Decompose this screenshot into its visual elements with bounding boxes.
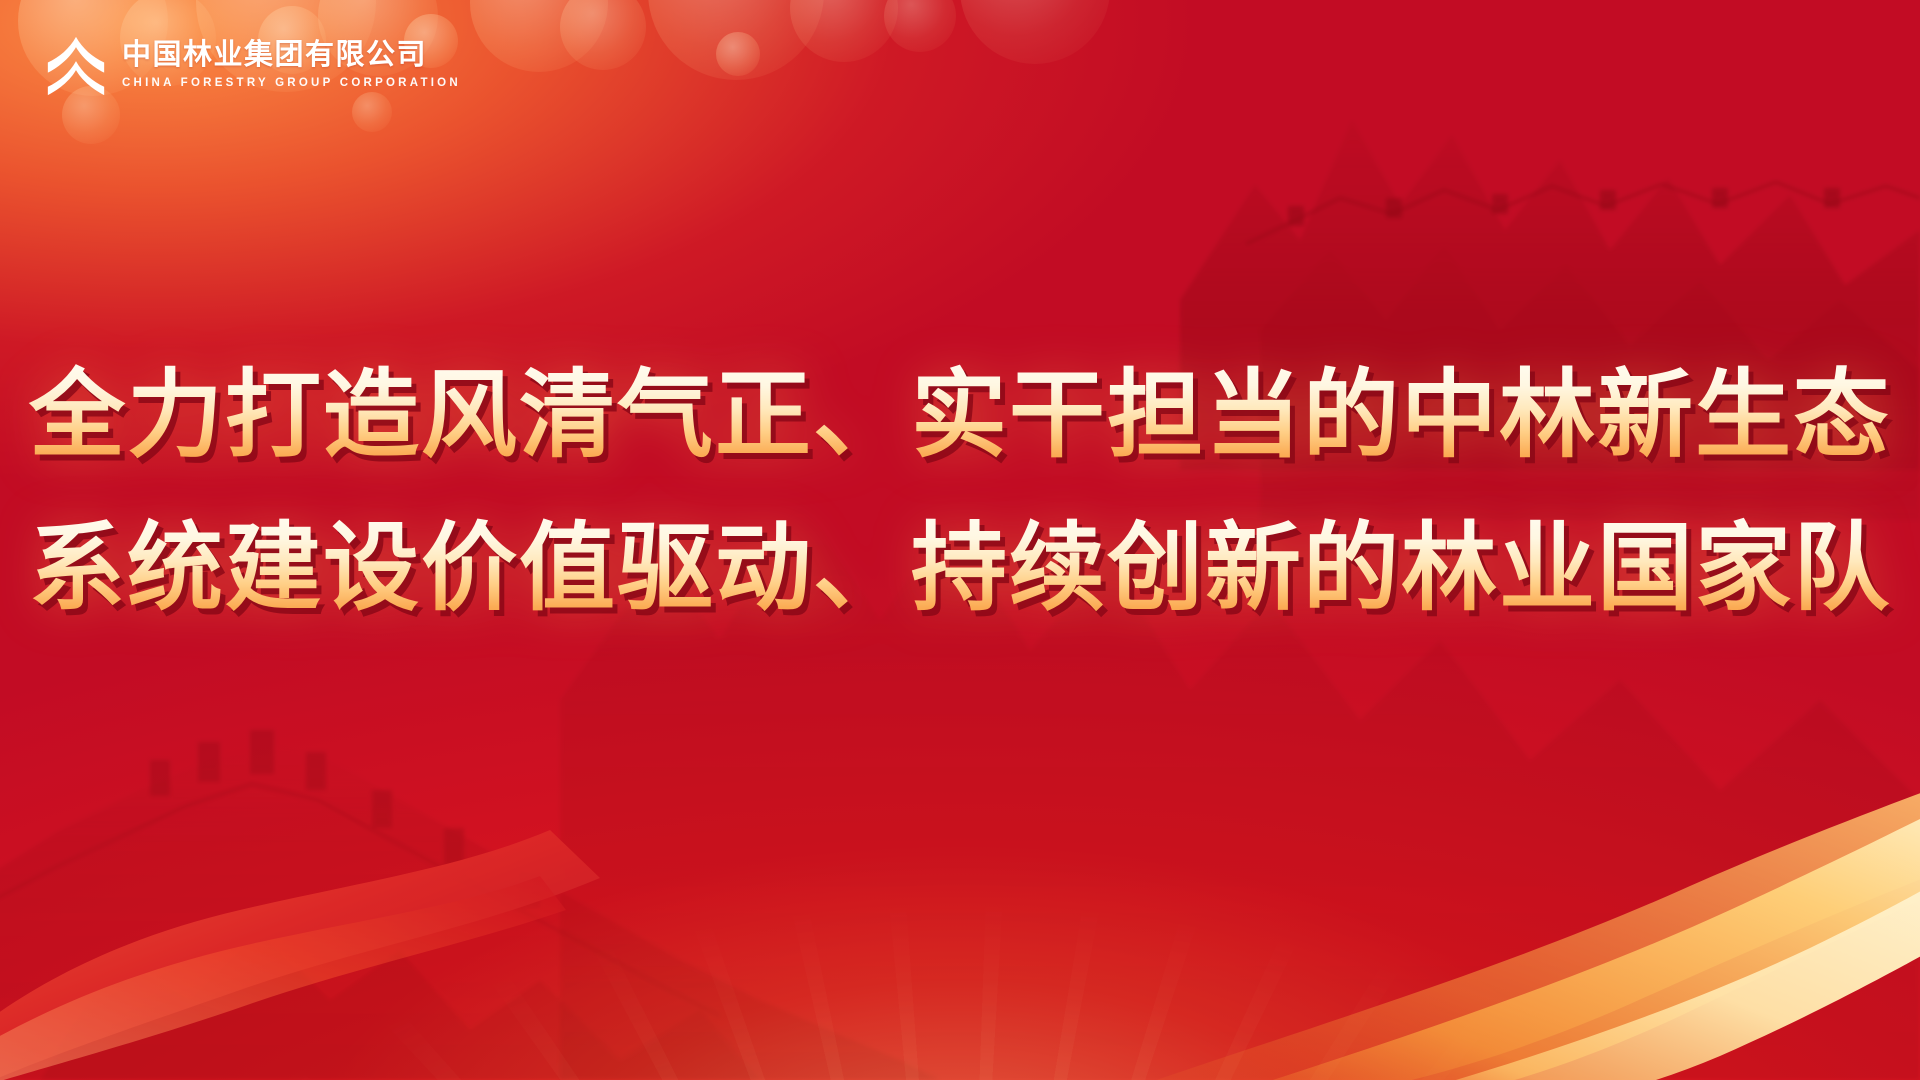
red-silk-ribbon [0,760,760,1080]
china-forestry-group-pagoda-mark [44,33,108,97]
logo-name-en: CHINA FORESTRY GROUP CORPORATION [122,77,461,91]
banner-canvas: 中国林业集团有限公司 CHINA FORESTRY GROUP CORPORAT… [0,0,1920,1080]
logo-lockup: 中国林业集团有限公司 CHINA FORESTRY GROUP CORPORAT… [44,33,461,97]
logo-name-cn: 中国林业集团有限公司 [122,39,461,71]
headline-line-1: 全力打造风清气正、实干担当的中林新生态 [0,352,1920,481]
golden-ribbon-swoosh [930,790,1920,1080]
logo-text-block: 中国林业集团有限公司 CHINA FORESTRY GROUP CORPORAT… [122,39,461,90]
headline-line-2: 系统建设价值驱动、持续创新的林业国家队 [0,505,1920,634]
headline-block: 全力打造风清气正、实干担当的中林新生态 系统建设价值驱动、持续创新的林业国家队 [0,352,1920,633]
